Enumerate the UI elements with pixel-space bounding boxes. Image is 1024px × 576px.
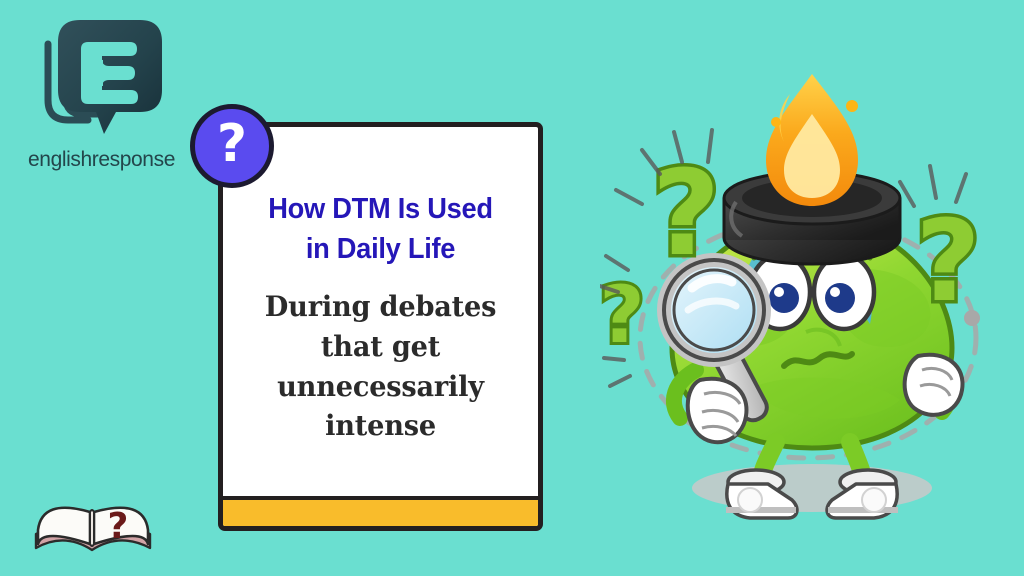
svg-text:?: ? [600,271,645,361]
card-subtitle-line-4: intense [249,406,512,446]
card-body: How DTM Is Used in Daily Life During deb… [223,127,538,496]
speech-bubble-logo-icon [32,16,166,138]
card-title-line-2: in Daily Life [253,229,508,269]
flame-icon [766,74,858,206]
card-subtitle-line-1: During debates [249,287,512,327]
question-mark-icon: ? [217,118,247,170]
card-subtitle-line-2: that get [249,327,512,367]
question-mark-left-large: ? [652,144,720,282]
card-subtitle: During debates that get unnecessarily in… [249,287,512,446]
svg-text:?: ? [916,197,981,327]
question-badge: ? [190,104,274,188]
brand-name: englishresponse [14,148,189,172]
mascot-illustration: ? ? ? [600,70,1024,530]
question-mark-left-small: ? [600,271,645,361]
content-card: How DTM Is Used in Daily Life During deb… [218,122,543,531]
svg-text:?: ? [652,144,720,282]
brand-logo: englishresponse [14,14,189,174]
book-question-mark-icon: ? [108,506,129,547]
open-book-icon: ? [26,478,161,566]
left-iris [769,283,799,313]
card-subtitle-line-3: unnecessarily [249,367,512,407]
question-mark-right: ? [916,197,981,327]
card-title-line-1: How DTM Is Used [253,189,508,229]
right-iris [825,283,855,313]
card-footer-bar [223,496,538,526]
card-title: How DTM Is Used in Daily Life [253,189,508,269]
poster-canvas: englishresponse How DTM Is Used in Daily… [0,0,1024,576]
